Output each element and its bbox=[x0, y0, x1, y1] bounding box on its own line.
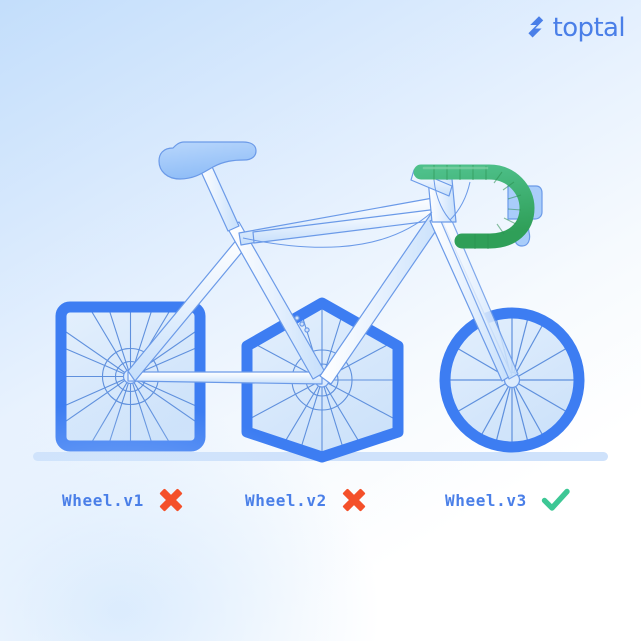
check-icon bbox=[541, 487, 571, 513]
cross-icon bbox=[158, 487, 184, 513]
wheel-v3-circle bbox=[440, 308, 584, 452]
wheel-v1-label-group: Wheel.v1 bbox=[62, 483, 184, 517]
wheel-v2-label: Wheel.v2 bbox=[245, 491, 327, 510]
wheel-version-labels: Wheel.v1 Wheel.v2 Wheel.v3 bbox=[0, 483, 641, 517]
illustration-canvas: toptal bbox=[0, 0, 641, 641]
wheel-v1-label: Wheel.v1 bbox=[62, 491, 144, 510]
cross-icon bbox=[341, 487, 367, 513]
bicycle-illustration bbox=[0, 0, 641, 641]
toptal-chevron-icon bbox=[526, 15, 548, 39]
toptal-logo[interactable]: toptal bbox=[526, 14, 625, 40]
wheel-v2-label-group: Wheel.v2 bbox=[245, 483, 367, 517]
toptal-wordmark: toptal bbox=[553, 15, 625, 41]
wheel-v3-label-group: Wheel.v3 bbox=[445, 483, 571, 517]
wheel-v3-label: Wheel.v3 bbox=[445, 491, 527, 510]
